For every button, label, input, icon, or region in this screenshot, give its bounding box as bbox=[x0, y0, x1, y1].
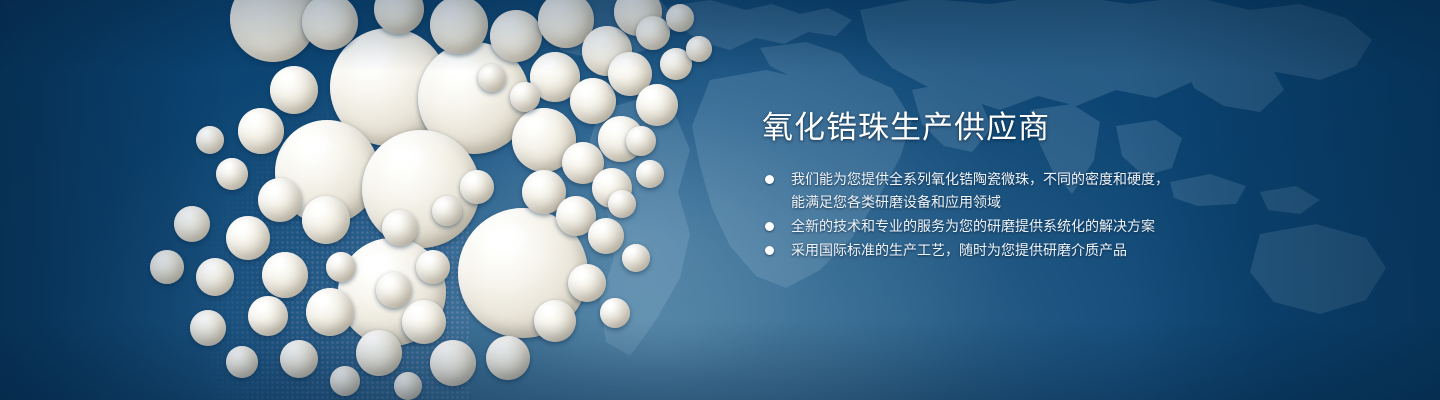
product-hero-banner: 氧化锆珠生产供应商 我们能为您提供全系列氧化锆陶瓷微珠，不同的密度和硬度， 能满… bbox=[0, 0, 1440, 400]
banner-vignette bbox=[0, 0, 1440, 400]
